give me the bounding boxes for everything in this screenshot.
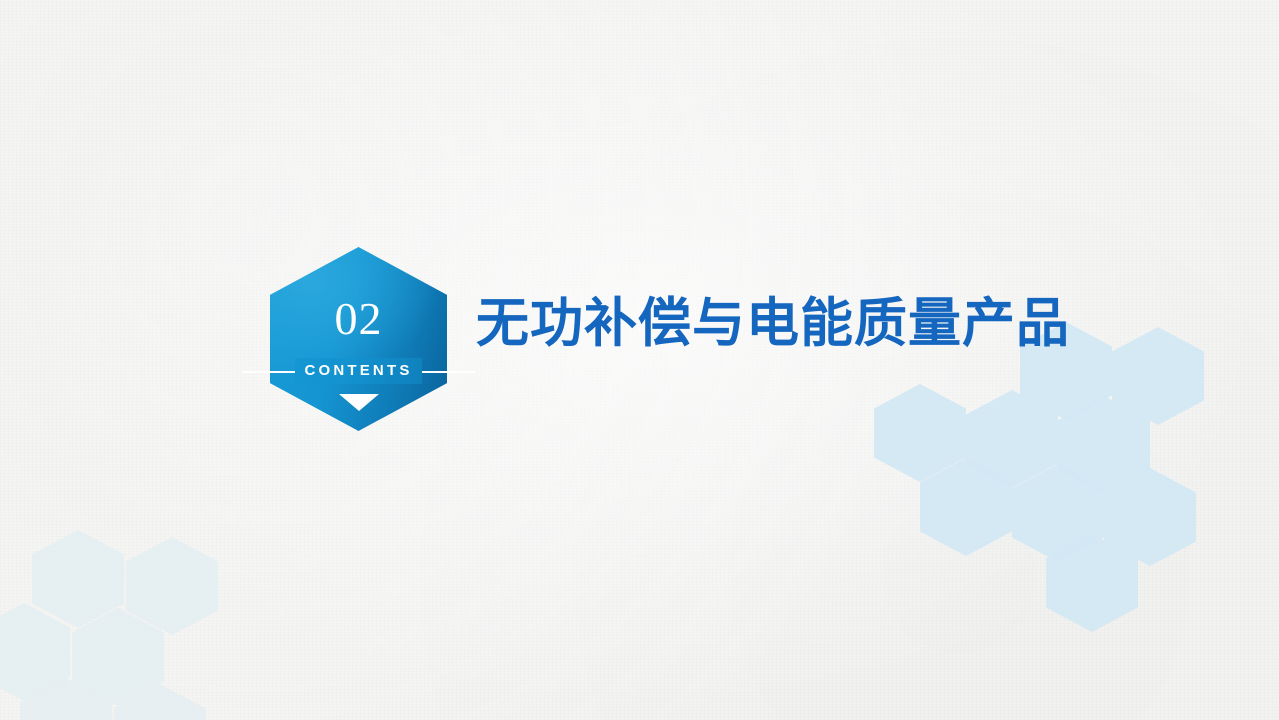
- section-number: 02: [270, 296, 447, 342]
- page-title: 无功补偿与电能质量产品: [476, 294, 1070, 354]
- slide-canvas: 02 CONTENTS 无功补偿与电能质量产品: [0, 0, 1279, 720]
- badge-label: CONTENTS: [295, 358, 421, 384]
- triangle-down-icon: [339, 394, 379, 411]
- section-number-badge[interactable]: 02 CONTENTS: [270, 247, 447, 431]
- badge-label-container: CONTENTS: [270, 358, 447, 384]
